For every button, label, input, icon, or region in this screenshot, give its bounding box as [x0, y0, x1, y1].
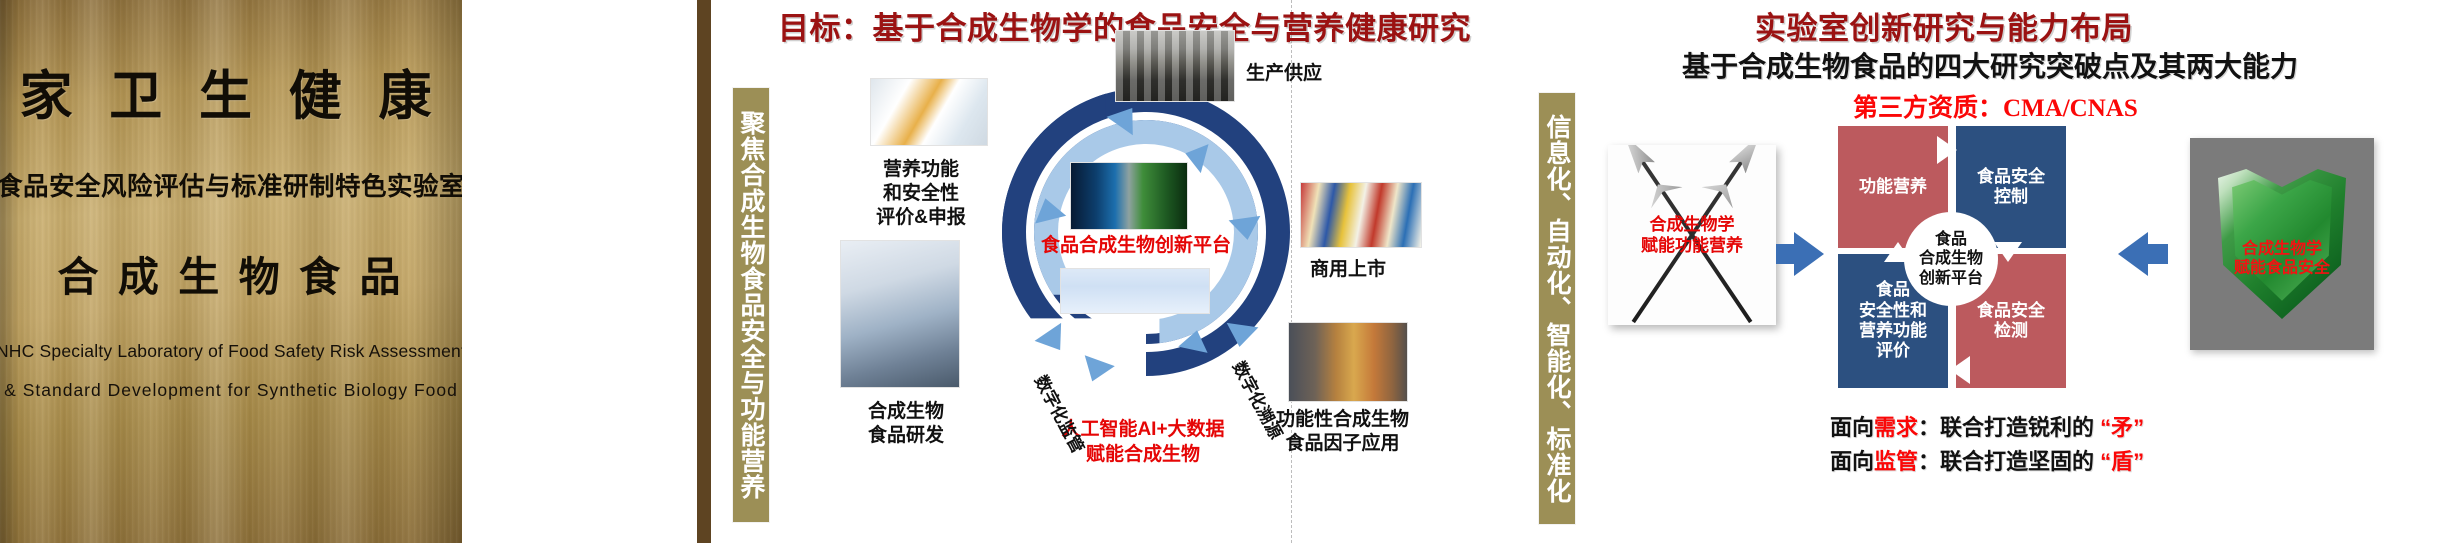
ring-arrow-bottom-left [1077, 355, 1115, 387]
plaque-english-line-2: & Standard Development for Synthetic Bio… [4, 380, 458, 401]
crossed-spears-card: 合成生物学 赋能功能营养 [1608, 145, 1776, 325]
qualification-value: CMA/CNAS [2003, 95, 2138, 122]
qualification-label: 第三方资质： [1853, 94, 2003, 122]
quad-chevron-top [1937, 136, 1957, 164]
middle-vertical-strip-label: 聚焦合成生物食品安全与功能营养 [733, 88, 769, 522]
synbio-cycle-diagram: 营养功能 和安全性 评价&申报 生产供应 商用上市 功能性合成生物 食品因子应用… [780, 40, 1480, 540]
node-label-commercial-launch: 商用上市 [1310, 258, 1386, 282]
photo-nutrition-assessment [870, 78, 988, 146]
node-label-functional-factor: 功能性合成生物 食品因子应用 [1276, 408, 1409, 456]
quad-chevron-bottom [1950, 356, 1970, 384]
photo-laboratory [840, 240, 960, 388]
shield-card: 合成生物学 赋能食品安全 [2190, 138, 2374, 350]
plaque-english-line-1: NHC Specialty Laboratory of Food Safety … [0, 343, 462, 361]
arrow-left-to-center [1794, 232, 1824, 276]
right-panel-subtitle: 基于合成生物食品的四大研究突破点及其两大能力 [1682, 45, 2298, 85]
photo-food-market-crowd [1288, 322, 1408, 402]
node-label-nutrition-eval: 营养功能 和安全性 评价&申报 [842, 158, 1000, 229]
shield-card-text: 合成生物学 赋能食品安全 [2234, 239, 2330, 278]
ring-arrow-right-down-2 [1224, 323, 1259, 349]
spear-card-text: 合成生物学 赋能功能营养 [1608, 214, 1776, 257]
node-label-production-supply: 生产供应 [1246, 62, 1322, 86]
third-party-qualification: 第三方资质：CMA/CNAS [1853, 88, 2138, 124]
quad-chevron-right [1994, 242, 2022, 262]
platform-center-label: 食品合成生物创新平台 [1036, 234, 1236, 259]
nhc-plaque: 国 家 卫 生 健 康 委 食品安全风险评估与标准研制特色实验室 合 成 生 物… [0, 0, 462, 543]
plaque-line-2: 食品安全风险评估与标准研制特色实验室 [0, 166, 462, 203]
brown-divider-bar [697, 0, 711, 543]
photo-retail-products [1300, 182, 1422, 248]
node-label-synbio-rnd: 合成生物 食品研发 [858, 400, 954, 448]
bottom-line-demand: 面向需求：联合打造锐利的 “矛” [1830, 410, 2144, 442]
right-vertical-strip-label: 信息化、自动化、智能化、标准化 [1539, 93, 1575, 524]
plaque-line-1: 国 家 卫 生 健 康 委 [0, 54, 462, 130]
arrow-right-to-center [2118, 232, 2148, 276]
right-panel-title: 实验室创新研究与能力布局 [1755, 3, 2133, 48]
photo-ai-biotech [1070, 162, 1188, 230]
arrow-right-shaft [2146, 244, 2168, 264]
photo-production-facility [1115, 30, 1235, 102]
ring-arrow-left-down [1035, 323, 1074, 359]
bottom-line-regulation: 面向监管：联合打造坚固的 “盾” [1830, 444, 2144, 476]
photo-platform-illustration [1060, 268, 1210, 314]
center-hub-platform: 食品 合成生物 创新平台 [1904, 212, 1998, 306]
capability-layout-diagram: 合成生物学 赋能功能营养 功能营养 食品安全 控制 食品 安全性和 营养功能 评… [1580, 120, 2442, 543]
arrow-left-shaft [1776, 244, 1798, 264]
plaque-line-3: 合 成 生 物 食 品 [58, 243, 405, 303]
